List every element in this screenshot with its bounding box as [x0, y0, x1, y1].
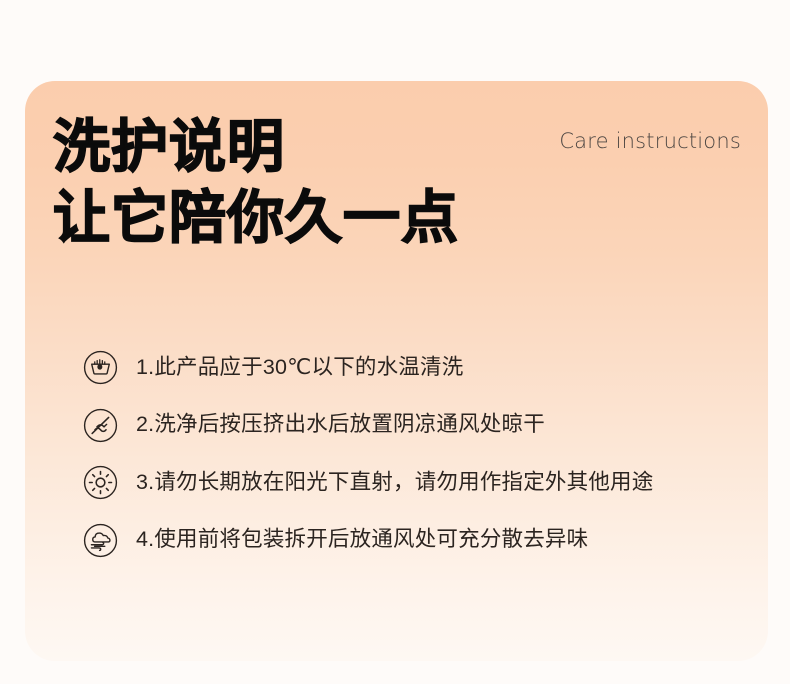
instruction-list: 1.此产品应于30℃以下的水温清洗 2.洗净后按压挤出水后放置阴凉通风处晾干	[82, 339, 742, 569]
instruction-row: 4.使用前将包装拆开后放通风处可充分散去异味	[82, 512, 742, 570]
instruction-row: 2.洗净后按压挤出水后放置阴凉通风处晾干	[82, 397, 742, 455]
page-title-line-1: 洗护说明	[53, 112, 459, 183]
page-title-line-2: 让它陪你久一点	[53, 183, 459, 254]
sun-icon	[82, 464, 119, 501]
wash-tub-icon	[82, 349, 119, 386]
instruction-text: 2.洗净后按压挤出水后放置阴凉通风处晾干	[136, 412, 545, 438]
instruction-text: 3.请勿长期放在阳光下直射，请勿用作指定外其他用途	[136, 470, 653, 496]
english-subtitle: Care instructions	[559, 129, 741, 153]
instruction-row: 3.请勿长期放在阳光下直射，请勿用作指定外其他用途	[82, 454, 742, 512]
care-instructions-card: 洗护说明 让它陪你久一点 Care instructions 1.此产品应于3	[25, 81, 768, 661]
instruction-text: 1.此产品应于30℃以下的水温清洗	[136, 355, 463, 381]
heading-group: 洗护说明 让它陪你久一点	[53, 112, 459, 254]
instruction-text: 4.使用前将包装拆开后放通风处可充分散去异味	[136, 527, 588, 553]
card-header: 洗护说明 让它陪你久一点 Care instructions	[25, 81, 768, 311]
instruction-row: 1.此产品应于30℃以下的水温清洗	[82, 339, 742, 397]
no-tumble-dry-icon	[82, 407, 119, 444]
cloud-wind-icon	[82, 522, 119, 559]
